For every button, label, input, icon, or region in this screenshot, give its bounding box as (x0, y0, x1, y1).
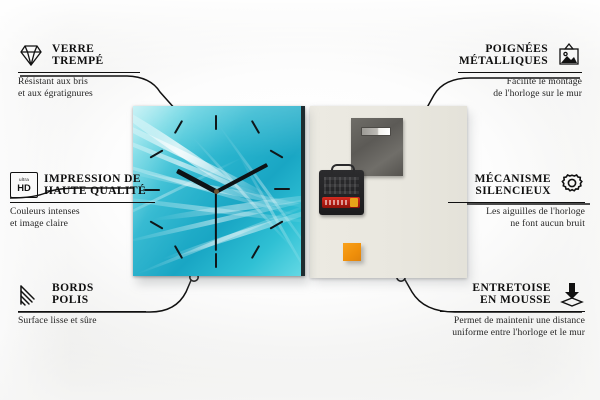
feature-title-line1: POIGNÉES (459, 43, 548, 56)
feature-divider (440, 311, 585, 312)
battery-label (325, 200, 347, 205)
feature-subtitle-line2: et image claire (10, 218, 155, 229)
feature-subtitle-line1: Permet de maintenir une distance (440, 315, 585, 326)
feature-impression-haute-qualite: ultra HD IMPRESSION DE HAUTE QUALITÉ Cou… (10, 172, 155, 229)
mechanism-handle (331, 164, 355, 175)
feature-subtitle-line1: Facilite le montage (458, 76, 582, 87)
feature-subtitle-line1: Les aiguilles de l'horloge (448, 206, 585, 217)
feature-title-line2: SILENCIEUX (475, 185, 551, 198)
feature-title-line1: VERRE (52, 43, 104, 56)
diamond-icon (18, 42, 44, 68)
battery-terminal (350, 198, 358, 207)
metal-hanger-part (351, 118, 403, 176)
feature-entretoise-en-mousse: ENTRETOISE EN MOUSSE Permet de maintenir… (440, 281, 585, 338)
feature-divider (18, 72, 140, 73)
infographic-canvas: VERRE TREMPÉ Résistant aux bris et aux é… (0, 0, 600, 400)
feature-title-line2: EN MOUSSE (472, 294, 551, 307)
feature-header: BORDS POLIS (18, 281, 146, 307)
clock-back-panel (310, 106, 467, 278)
feature-divider (458, 72, 582, 73)
mechanism-texture (324, 177, 359, 194)
feature-subtitle-line2: ne font aucun bruit (448, 218, 585, 229)
gear-icon (559, 172, 585, 198)
feature-subtitle-line1: Couleurs intenses (10, 206, 155, 217)
feature-header: VERRE TREMPÉ (18, 42, 140, 68)
feature-title-line2: MÉTALLIQUES (459, 55, 548, 68)
clock-face (133, 106, 305, 276)
ultra-hd-icon: ultra HD (10, 172, 36, 198)
product-image (133, 106, 467, 278)
feature-subtitle-line1: Résistant aux bris (18, 76, 140, 87)
clock-center-pin (214, 189, 219, 194)
battery (322, 197, 360, 208)
feature-divider (448, 202, 585, 203)
wall-mount-icon (556, 42, 582, 68)
feature-subtitle-line2: uniforme entre l'horloge et le mur (440, 327, 585, 338)
feature-title-line2: HAUTE QUALITÉ (44, 185, 146, 198)
feature-mecanisme-silencieux: MÉCANISME SILENCIEUX Les aiguilles de l'… (448, 172, 585, 229)
polished-edge-icon (18, 281, 44, 307)
feature-header: POIGNÉES MÉTALLIQUES (458, 42, 582, 68)
feature-subtitle-line2: et aux égratignures (18, 88, 140, 99)
clock-mechanism-part (319, 170, 364, 215)
feature-poignees-metalliques: POIGNÉES MÉTALLIQUES Facilite le montage… (458, 42, 582, 99)
feature-title-line1: BORDS (52, 282, 94, 295)
feature-title-line1: MÉCANISME (475, 173, 551, 186)
clock-tick (215, 253, 217, 268)
feature-title-line1: IMPRESSION DE (44, 173, 146, 186)
feature-header: MÉCANISME SILENCIEUX (448, 172, 585, 198)
feature-subtitle-line1: Surface lisse et sûre (18, 315, 146, 326)
feature-subtitle-line2: de l'horloge sur le mur (458, 88, 582, 99)
feature-title-line2: POLIS (52, 294, 94, 307)
clock-front (133, 106, 305, 278)
feature-header: ENTRETOISE EN MOUSSE (440, 281, 585, 307)
feature-verre-trempe: VERRE TREMPÉ Résistant aux bris et aux é… (18, 42, 140, 99)
foam-spacer-part (343, 243, 361, 261)
feature-bords-polis: BORDS POLIS Surface lisse et sûre (18, 281, 146, 327)
feature-title-line2: TREMPÉ (52, 55, 104, 68)
feature-title-line1: ENTRETOISE (472, 282, 551, 295)
feature-header: ultra HD IMPRESSION DE HAUTE QUALITÉ (10, 172, 155, 198)
second-hand (215, 191, 217, 251)
hanger-slot (361, 127, 391, 136)
clock-tick (215, 115, 217, 130)
feature-divider (18, 311, 146, 312)
feature-divider (10, 202, 155, 203)
foam-spacer-icon (559, 281, 585, 307)
